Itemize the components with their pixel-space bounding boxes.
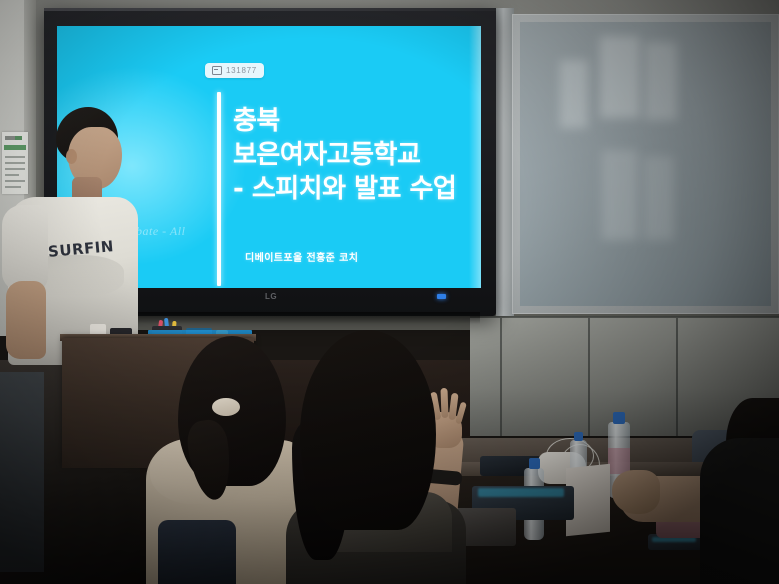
hand-finger — [440, 388, 448, 418]
student-longhair-hair — [300, 330, 436, 530]
slide-title-block: 충북 보은여자고등학교 - 스피치와 발표 수업 — [233, 104, 481, 206]
door-frame — [0, 372, 44, 572]
student-chair — [158, 520, 236, 584]
panel-seam — [588, 318, 590, 436]
slide-id-badge: 131877 — [205, 63, 264, 78]
window-reflection — [602, 150, 638, 240]
panel-seam — [500, 318, 502, 436]
slide-title-line-3: - 스피치와 발표 수업 — [233, 172, 481, 206]
hair-scrunchie — [212, 398, 240, 416]
bottle-cap — [613, 412, 625, 424]
window-reflection — [645, 42, 677, 120]
slide-title-line-1: 충북 — [233, 104, 481, 138]
right-person-body — [700, 438, 779, 584]
slide-title-line-2: 보은여자고등학교 — [233, 138, 481, 172]
bottle-cap — [574, 432, 583, 441]
display-bezel-highlight — [44, 8, 496, 11]
right-person-hand — [612, 470, 660, 514]
laptop-screen-glow — [478, 488, 564, 497]
classroom-presentation-photo: 131877 충북 보은여자고등학교 - 스피치와 발표 수업 디베이트포올 전… — [0, 0, 779, 584]
slide-subtitle: 디베이트포올 전홍준 코치 — [245, 249, 358, 264]
window-reflection — [560, 60, 588, 128]
display-brand-logo: LG — [260, 292, 282, 302]
window-reflection — [600, 36, 640, 118]
screen-glare — [469, 26, 481, 288]
slide-id-value: 131877 — [226, 66, 257, 75]
presenter-arm — [6, 281, 46, 359]
window-reflection — [644, 156, 674, 240]
slide-accent-bar — [217, 92, 221, 286]
presenter-ear — [66, 149, 77, 164]
presenter-sleeve — [2, 205, 48, 291]
id-card-icon — [212, 66, 222, 75]
display-power-led — [437, 294, 446, 299]
panel-seam — [676, 318, 678, 436]
bottle-cap — [529, 458, 540, 469]
